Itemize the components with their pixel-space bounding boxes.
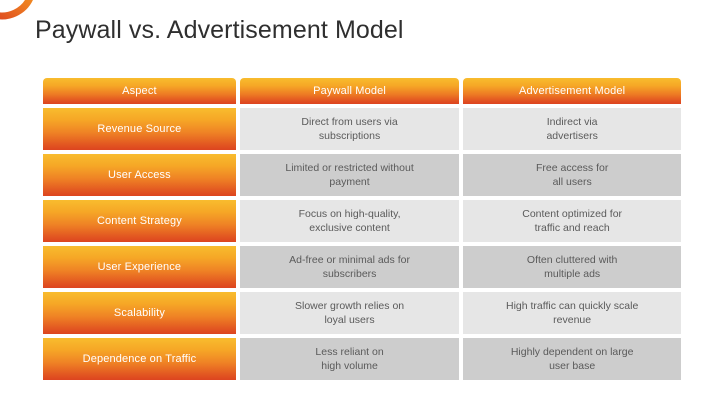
column-header-aspect: Aspect (43, 78, 236, 104)
corner-arc-decoration (0, 0, 34, 34)
row-advertisement-value: Indirect via advertisers (463, 108, 681, 150)
value-line-1: Free access for (463, 161, 681, 175)
table-body: Revenue Source Direct from users via sub… (43, 108, 681, 380)
value-line-1: Limited or restricted without (240, 161, 460, 175)
row-aspect-label: Scalability (43, 292, 236, 334)
column-header-paywall: Paywall Model (240, 78, 460, 104)
row-advertisement-value: High traffic can quickly scale revenue (463, 292, 681, 334)
table-header: Aspect Paywall Model Advertisement Model (43, 78, 681, 108)
value-line-2: subscriptions (240, 129, 460, 143)
value-line-1: Content optimized for (463, 207, 681, 221)
row-aspect-label: Dependence on Traffic (43, 338, 236, 380)
value-line-1: Often cluttered with (463, 253, 681, 267)
row-paywall-value: Ad-free or minimal ads for subscribers (240, 246, 460, 288)
value-line-2: multiple ads (463, 267, 681, 281)
row-aspect-label: Revenue Source (43, 108, 236, 150)
value-line-1: Highly dependent on large (463, 345, 681, 359)
row-paywall-value: Limited or restricted without payment (240, 154, 460, 196)
value-line-2: exclusive content (240, 221, 460, 235)
value-line-1: Focus on high-quality, (240, 207, 460, 221)
row-aspect-label: Content Strategy (43, 200, 236, 242)
row-advertisement-value: Free access for all users (463, 154, 681, 196)
column-header-advertisement: Advertisement Model (463, 78, 681, 104)
value-line-2: user base (463, 359, 681, 373)
table-header-row: Aspect Paywall Model Advertisement Model (43, 78, 681, 104)
row-aspect-label: User Access (43, 154, 236, 196)
value-line-2: payment (240, 175, 460, 189)
row-advertisement-value: Often cluttered with multiple ads (463, 246, 681, 288)
value-line-2: loyal users (240, 313, 460, 327)
table-row: Content Strategy Focus on high-quality, … (43, 200, 681, 242)
row-advertisement-value: Highly dependent on large user base (463, 338, 681, 380)
value-line-1: Slower growth relies on (240, 299, 460, 313)
table-row: Revenue Source Direct from users via sub… (43, 108, 681, 150)
row-advertisement-value: Content optimized for traffic and reach (463, 200, 681, 242)
value-line-2: traffic and reach (463, 221, 681, 235)
comparison-table: Aspect Paywall Model Advertisement Model… (43, 78, 681, 380)
value-line-1: Ad-free or minimal ads for (240, 253, 460, 267)
row-paywall-value: Focus on high-quality, exclusive content (240, 200, 460, 242)
value-line-2: all users (463, 175, 681, 189)
value-line-1: Less reliant on (240, 345, 460, 359)
row-paywall-value: Direct from users via subscriptions (240, 108, 460, 150)
table-row: User Experience Ad-free or minimal ads f… (43, 246, 681, 288)
table-row: User Access Limited or restricted withou… (43, 154, 681, 196)
row-aspect-label: User Experience (43, 246, 236, 288)
row-paywall-value: Slower growth relies on loyal users (240, 292, 460, 334)
table-row: Scalability Slower growth relies on loya… (43, 292, 681, 334)
slide-canvas: Paywall vs. Advertisement Model Aspect P… (0, 0, 720, 405)
value-line-1: High traffic can quickly scale (463, 299, 681, 313)
value-line-2: revenue (463, 313, 681, 327)
value-line-1: Direct from users via (240, 115, 460, 129)
value-line-2: high volume (240, 359, 460, 373)
value-line-1: Indirect via (463, 115, 681, 129)
page-title: Paywall vs. Advertisement Model (35, 14, 404, 46)
row-paywall-value: Less reliant on high volume (240, 338, 460, 380)
table-row: Dependence on Traffic Less reliant on hi… (43, 338, 681, 380)
value-line-2: subscribers (240, 267, 460, 281)
value-line-2: advertisers (463, 129, 681, 143)
